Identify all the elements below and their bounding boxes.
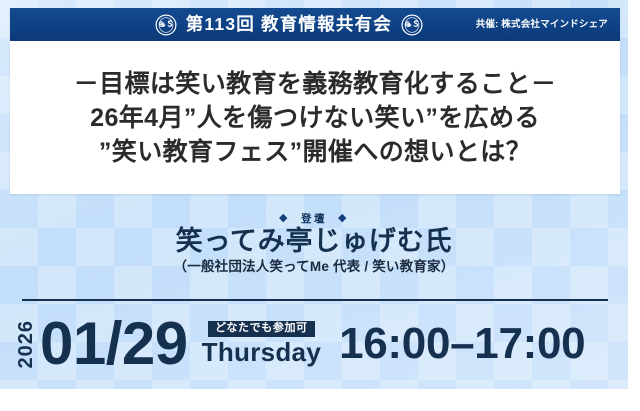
circular-seal-icon-left	[155, 14, 177, 36]
header-bar: 第113回 教育情報共有会 共催: 株式会社マインドシェア	[10, 8, 620, 41]
diamond-icon-left: ◆	[279, 213, 290, 224]
speaker-affiliation: （一般社団法人笑ってMe 代表 / 笑い教育家）	[174, 259, 455, 275]
speaker-name: 笑ってみ亭じゅげむ氏	[176, 226, 453, 257]
header-title-group: 第113回 教育情報共有会	[128, 14, 450, 36]
year-label: 2026	[16, 320, 36, 369]
speaker-section: ◆ 登壇 ◆ 笑ってみ亭じゅげむ氏 （一般社団法人笑ってMe 代表 / 笑い教育…	[0, 196, 628, 293]
time-range-label: 16:00–17:00	[339, 322, 585, 366]
speaker-eyebrow-label: 登壇	[301, 214, 327, 225]
datetime-section: 2026 01/29 どなたでも参加可 Thursday 16:00–17:00	[0, 303, 628, 385]
date-label: 01/29	[40, 314, 188, 374]
seminar-banner: 第113回 教育情報共有会 共催: 株式会社マインドシェア －目標は笑い教育を義…	[0, 0, 640, 411]
section-divider	[22, 299, 608, 301]
open-to-all-badge: どなたでも参加可	[208, 321, 315, 337]
weekday-label: Thursday	[202, 339, 321, 366]
cohost-label: 共催: 株式会社マインドシェア	[476, 20, 608, 30]
title-line-2: 26年4月”人を傷つけない笑い”を広める	[90, 104, 540, 132]
header-title: 第113回 教育情報共有会	[186, 16, 392, 34]
speaker-eyebrow: ◆ 登壇 ◆	[279, 213, 349, 224]
title-line-3: ”笑い教育フェス”開催への想いとは？	[99, 138, 531, 166]
diamond-icon-right: ◆	[338, 213, 349, 224]
title-line-1: －目標は笑い教育を義務教育化すること－	[74, 70, 557, 98]
main-title: －目標は笑い教育を義務教育化すること－ 26年4月”人を傷つけない笑い”を広める…	[10, 48, 620, 188]
weekday-group: どなたでも参加可 Thursday	[202, 321, 321, 366]
circular-seal-icon-right	[401, 14, 423, 36]
